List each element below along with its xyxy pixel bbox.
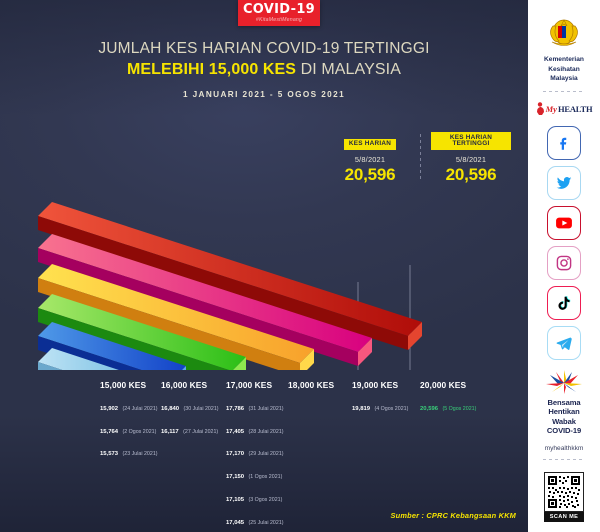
entry-row: 16,117 (27 Julai 2021)	[161, 418, 219, 441]
entry-row: 20,596 (5 Ogos 2021)	[420, 395, 476, 418]
tiktok-icon[interactable]	[547, 286, 581, 320]
stat-value: 20,596	[431, 165, 511, 185]
entry-value: 19,819	[352, 406, 370, 412]
telegram-icon[interactable]	[547, 326, 581, 360]
entry-value: 15,902	[100, 406, 118, 412]
entry-date: (4 Ogos 2021)	[374, 406, 408, 412]
entry-date: (29 Julai 2021)	[248, 451, 283, 457]
entry-date: (25 Julai 2021)	[248, 520, 283, 526]
headline-block: JUMLAH KES HARIAN COVID-19 TERTINGGI MEL…	[0, 40, 528, 99]
entry-value: 17,405	[226, 429, 244, 435]
headline-line2: MELEBIHI 15,000 KES DI MALAYSIA	[0, 61, 528, 79]
covid19-logo: COVID-19 #KitaMestiMenang	[238, 0, 320, 26]
sidebar: Kementerian Kesihatan Malaysia My HEALTH	[528, 0, 600, 532]
myhealth-figure-icon	[536, 102, 545, 115]
entry-date: (2 Ogos 2021)	[122, 429, 156, 435]
myhealth-health: HEALTH	[558, 104, 592, 114]
entry-value: 20,596	[420, 406, 438, 412]
entry-value: 16,840	[161, 406, 179, 412]
entry-value: 17,170	[226, 451, 244, 457]
label-group-16000: 16,000 KES 16,840 (30 Julai 2021) 16,117…	[161, 380, 219, 440]
divider	[543, 91, 585, 92]
entry-date: (27 Julai 2021)	[183, 429, 218, 435]
social-handle: myhealthkkm	[545, 445, 584, 452]
entry-row: 15,902 (24 Julai 2021)	[100, 395, 158, 418]
campaign-text: Bensama Hentikan Wabak COVID-19	[547, 398, 581, 436]
myhealth-logo: My HEALTH	[536, 98, 593, 120]
label-group-15000: 15,000 KES 15,902 (24 Julai 2021) 15,764…	[100, 380, 158, 463]
myhealth-my: My	[546, 104, 557, 114]
bar-chart	[0, 170, 528, 370]
group-title: 17,000 KES	[226, 380, 284, 390]
scan-me-label: SCAN ME	[544, 512, 584, 522]
entry-date: (31 Julai 2021)	[248, 406, 283, 412]
chart-labels: 15,000 KES 15,902 (24 Julai 2021) 15,764…	[0, 380, 528, 460]
youtube-icon[interactable]	[547, 206, 581, 240]
headline-highlight: MELEBIHI 15,000 KES	[127, 61, 296, 78]
ministry-name: Kementerian Kesihatan Malaysia	[544, 55, 584, 84]
entry-date: (28 Julai 2021)	[248, 429, 283, 435]
entry-value: 17,150	[226, 474, 244, 480]
divider	[543, 459, 585, 460]
entry-value: 15,573	[100, 451, 118, 457]
entry-value: 15,764	[100, 429, 118, 435]
group-title: 19,000 KES	[352, 380, 408, 390]
covid19-logo-title: COVID-19	[243, 3, 315, 16]
group-title: 15,000 KES	[100, 380, 158, 390]
entry-row: 17,150 (1 Ogos 2021)	[226, 463, 284, 486]
main-panel: COVID-19 #KitaMestiMenang JUMLAH KES HAR…	[0, 0, 528, 532]
campaign-line1: Bensama	[547, 398, 581, 407]
campaign-line4: COVID-19	[547, 426, 581, 435]
group-title: 20,000 KES	[420, 380, 476, 390]
entry-row: 17,405 (28 Julai 2021)	[226, 418, 284, 441]
entry-row: 17,105 (3 Ogos 2021)	[226, 486, 284, 509]
group-title: 16,000 KES	[161, 380, 219, 390]
label-group-19000: 19,000 KES 19,819 (4 Ogos 2021)	[352, 380, 408, 418]
twitter-icon[interactable]	[547, 166, 581, 200]
stat-kes-harian-tertinggi: KES HARIAN TERTINGGI 5/8/2021 20,596	[431, 132, 511, 185]
stat-kes-harian: KES HARIAN 5/8/2021 20,596	[330, 132, 410, 185]
bar-chart-svg	[0, 170, 528, 370]
entry-date: (23 Julai 2021)	[122, 451, 157, 457]
entry-date: (1 Ogos 2021)	[248, 474, 282, 480]
source-note: Sumber : CPRC Kebangsaan KKM	[0, 511, 516, 520]
entry-date: (5 Ogos 2021)	[442, 406, 476, 412]
group-title: 18,000 KES	[288, 380, 334, 390]
qr-block[interactable]: SCAN ME	[544, 472, 584, 522]
entry-row: 17,170 (29 Julai 2021)	[226, 440, 284, 463]
entry-date: (30 Julai 2021)	[183, 406, 218, 412]
label-group-18000: 18,000 KES	[288, 380, 334, 390]
malaysia-coat-of-arms-icon	[542, 8, 586, 52]
label-group-17000: 17,000 KES 17,786 (31 Julai 2021) 17,405…	[226, 380, 284, 531]
stat-value: 20,596	[330, 165, 410, 185]
entry-value: 16,117	[161, 429, 179, 435]
covid19-logo-tagline: #KitaMestiMenang	[256, 18, 302, 23]
entry-date: (3 Ogos 2021)	[248, 497, 282, 503]
stats-row: KES HARIAN 5/8/2021 20,596 KES HARIAN TE…	[330, 132, 511, 185]
headline-line1: JUMLAH KES HARIAN COVID-19 TERTINGGI	[0, 40, 528, 58]
stat-date: 5/8/2021	[330, 155, 410, 164]
group-entries: 16,840 (30 Julai 2021) 16,117 (27 Julai …	[161, 395, 219, 440]
headline-rest: DI MALAYSIA	[296, 61, 401, 78]
stat-caption: KES HARIAN TERTINGGI	[431, 132, 511, 150]
facebook-icon[interactable]	[547, 126, 581, 160]
ministry-line1: Kementerian	[544, 55, 584, 65]
ministry-line2: Kesihatan	[544, 65, 584, 75]
entry-date: (24 Julai 2021)	[122, 406, 157, 412]
group-entries: 19,819 (4 Ogos 2021)	[352, 395, 408, 418]
entry-row: 16,840 (30 Julai 2021)	[161, 395, 219, 418]
qr-code-icon[interactable]	[544, 472, 584, 512]
stat-date: 5/8/2021	[431, 155, 511, 164]
campaign-block: Bensama Hentikan Wabak COVID-19	[544, 370, 584, 436]
instagram-icon[interactable]	[547, 246, 581, 280]
headline-date-range: 1 JANUARI 2021 - 5 OGOS 2021	[0, 90, 528, 99]
entry-row: 15,573 (23 Julai 2021)	[100, 440, 158, 463]
infographic-page: COVID-19 #KitaMestiMenang JUMLAH KES HAR…	[0, 0, 600, 532]
entry-row: 15,764 (2 Ogos 2021)	[100, 418, 158, 441]
stats-divider	[420, 134, 421, 180]
label-group-20000: 20,000 KES 20,596 (5 Ogos 2021)	[420, 380, 476, 418]
campaign-line3: Wabak	[547, 417, 581, 426]
group-entries: 15,902 (24 Julai 2021) 15,764 (2 Ogos 20…	[100, 395, 158, 463]
ministry-line3: Malaysia	[544, 74, 584, 84]
entry-row: 19,819 (4 Ogos 2021)	[352, 395, 408, 418]
entry-value: 17,105	[226, 497, 244, 503]
group-entries: 20,596 (5 Ogos 2021)	[420, 395, 476, 418]
stat-caption: KES HARIAN	[344, 139, 396, 150]
campaign-burst-icon	[544, 370, 584, 396]
entry-row: 17,786 (31 Julai 2021)	[226, 395, 284, 418]
campaign-line2: Hentikan	[547, 407, 581, 416]
entry-value: 17,786	[226, 406, 244, 412]
entry-value: 17,045	[226, 520, 244, 526]
